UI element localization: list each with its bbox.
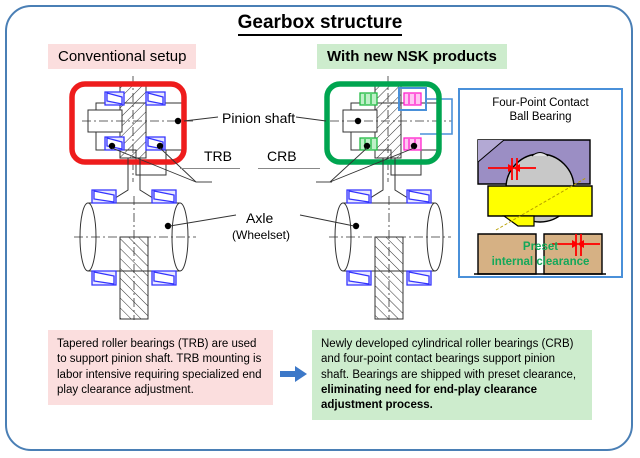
inset-caption: Presetinternal clearance [460,240,621,269]
left-gearbox-assembly [72,76,236,320]
inset-title: Four-Point ContactBall Bearing [460,96,621,125]
label-axle-wheelset: (Wheelset) [232,228,290,242]
label-axle: Axle [246,210,273,226]
four-point-bearing-inset: Four-Point ContactBall Bearing [458,88,623,278]
label-crb: CRB [267,148,297,164]
right-arrow-icon [280,365,308,383]
bearing-cross-section [460,122,621,308]
trb-leader-line [180,168,240,169]
gearbox-structure-figure: Gearbox structure Conventional setup Wit… [0,0,640,458]
four-point-bearing [404,93,421,150]
callout-nsk-emphasis: eliminating need for end-play clearance … [321,384,537,411]
callout-nsk: Newly developed cylindrical roller beari… [312,330,592,420]
label-trb: TRB [204,148,232,164]
callout-conventional: Tapered roller bearings (TRB) are used t… [48,330,273,405]
label-pinion-shaft: Pinion shaft [222,110,295,126]
right-gearbox-assembly [296,76,452,320]
crb-leader-line [258,168,320,169]
callout-nsk-text: Newly developed cylindrical roller beari… [321,338,576,381]
